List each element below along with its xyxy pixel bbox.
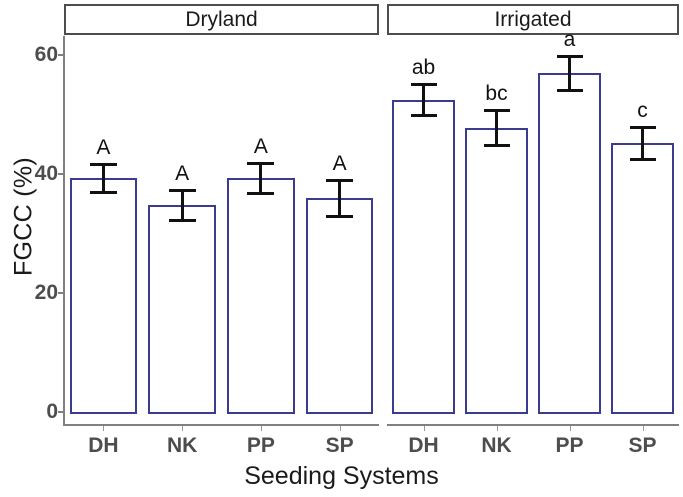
y-axis-tick-labels: 0204060 xyxy=(6,0,58,497)
y-axis-tick-mark xyxy=(58,292,64,294)
error-bar-cap-lower xyxy=(247,192,274,195)
x-axis-line xyxy=(387,424,679,426)
x-axis-tick-mark xyxy=(497,426,498,431)
error-bar-cap-upper xyxy=(630,126,656,129)
error-bar-stem xyxy=(102,164,105,193)
error-bar-stem xyxy=(259,163,262,193)
error-bar-cap-lower xyxy=(326,215,353,218)
error-bar-stem xyxy=(568,56,571,91)
error-bar-cap-upper xyxy=(326,179,353,182)
error-bar-cap-lower xyxy=(557,89,583,92)
significance-letter: A xyxy=(254,135,268,159)
y-axis-tick-mark xyxy=(58,173,64,175)
error-bar-cap-lower xyxy=(630,158,656,161)
x-axis-tick-label: NK xyxy=(167,434,197,458)
x-axis-tick-label: DH xyxy=(88,434,118,458)
chart-figure: FGCC (%) 0204060 DrylandADHANKAPPASPIrri… xyxy=(0,0,683,497)
bar xyxy=(70,178,137,414)
y-axis-tick-label: 60 xyxy=(12,43,58,67)
error-bar-cap-upper xyxy=(557,55,583,58)
significance-letter: ab xyxy=(412,56,435,80)
error-bar-cap-upper xyxy=(247,162,274,165)
panel-strip-label: Dryland xyxy=(64,4,379,35)
x-axis-tick-mark xyxy=(424,426,425,431)
significance-letter: A xyxy=(96,136,110,160)
panel-strip-text: Irrigated xyxy=(494,8,571,32)
x-axis-tick-label: PP xyxy=(247,434,275,458)
error-bar-stem xyxy=(181,190,184,220)
x-axis-tick-mark xyxy=(261,426,262,431)
x-axis-title: Seeding Systems xyxy=(0,462,683,491)
x-axis-tick-label: SP xyxy=(628,434,656,458)
x-axis-tick-mark xyxy=(643,426,644,431)
x-axis-line xyxy=(64,424,379,426)
bar xyxy=(465,128,527,414)
error-bar-cap-lower xyxy=(484,144,510,147)
error-bar-cap-upper xyxy=(169,189,196,192)
x-axis-tick-mark xyxy=(340,426,341,431)
bar xyxy=(392,100,454,414)
panel-strip-label: Irrigated xyxy=(387,4,679,35)
y-axis-tick-mark xyxy=(58,411,64,413)
error-bar-cap-lower xyxy=(169,219,196,222)
error-bar-cap-lower xyxy=(90,191,117,194)
bar xyxy=(538,73,600,414)
bar xyxy=(227,178,294,414)
error-bar-stem xyxy=(641,127,644,159)
x-axis-tick-mark xyxy=(182,426,183,431)
significance-letter: bc xyxy=(485,82,507,106)
bar xyxy=(611,143,673,414)
significance-letter: a xyxy=(564,28,576,52)
y-axis-tick-label: 20 xyxy=(12,281,58,305)
y-axis-tick-label: 0 xyxy=(12,400,58,424)
error-bar-stem xyxy=(338,180,341,216)
error-bar-cap-lower xyxy=(411,114,437,117)
error-bar-stem xyxy=(495,110,498,145)
error-bar-stem xyxy=(422,84,425,115)
y-axis-tick-mark xyxy=(58,54,64,56)
y-axis-line xyxy=(63,36,65,426)
bar xyxy=(148,205,215,414)
x-axis-tick-label: SP xyxy=(326,434,354,458)
significance-letter: A xyxy=(333,152,347,176)
error-bar-cap-upper xyxy=(484,109,510,112)
x-axis-tick-label: PP xyxy=(555,434,583,458)
bar xyxy=(306,198,373,414)
panel-strip-text: Dryland xyxy=(185,8,257,32)
error-bar-cap-upper xyxy=(90,163,117,166)
x-axis-tick-label: NK xyxy=(481,434,511,458)
error-bar-cap-upper xyxy=(411,83,437,86)
x-axis-tick-label: DH xyxy=(408,434,438,458)
x-axis-tick-mark xyxy=(103,426,104,431)
significance-letter: A xyxy=(175,162,189,186)
x-axis-tick-mark xyxy=(570,426,571,431)
significance-letter: c xyxy=(637,99,648,123)
y-axis-tick-label: 40 xyxy=(12,162,58,186)
